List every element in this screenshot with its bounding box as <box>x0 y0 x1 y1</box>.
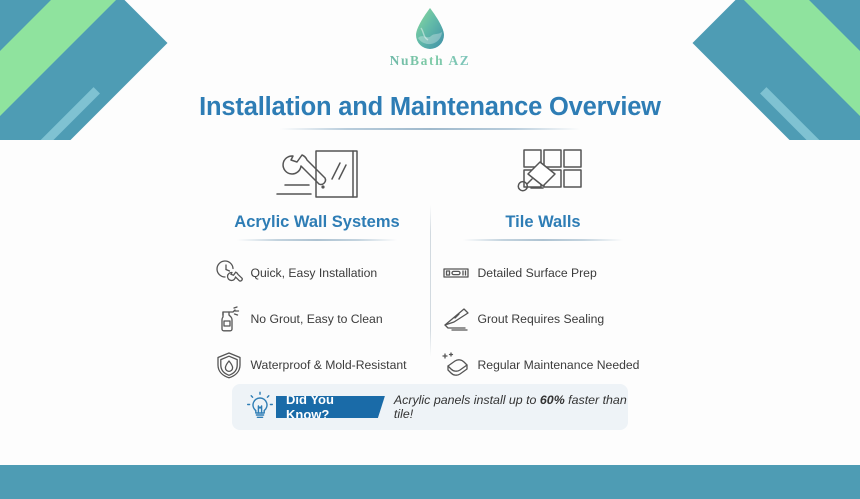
list-item: Grout Requires Sealing <box>441 304 656 334</box>
did-you-know-banner: Did You Know? Acrylic panels install up … <box>232 384 628 430</box>
list-item-label: Waterproof & Mold-Resistant <box>251 358 407 372</box>
title-underline <box>280 128 580 130</box>
spirit-level-icon <box>441 258 471 288</box>
list-item: No Grout, Easy to Clean <box>214 304 429 334</box>
list-item-label: Grout Requires Sealing <box>478 312 605 326</box>
list-item: Waterproof & Mold-Resistant <box>214 350 429 380</box>
column-heading-underline <box>237 239 397 241</box>
page-title: Installation and Maintenance Overview <box>0 93 860 122</box>
list-item-label: Quick, Easy Installation <box>251 266 378 280</box>
list-item: Detailed Surface Prep <box>441 258 656 288</box>
shield-droplet-icon <box>214 350 244 380</box>
list-item: Regular Maintenance Needed <box>441 350 656 380</box>
list-item-label: No Grout, Easy to Clean <box>251 312 383 326</box>
clock-wrench-icon <box>214 258 244 288</box>
water-drop-logo-icon <box>412 6 448 52</box>
dyk-text-before: Acrylic panels install up to <box>394 393 540 407</box>
did-you-know-text: Acrylic panels install up to 60% faster … <box>394 393 628 421</box>
column-tile: Tile Walls <box>436 143 651 396</box>
column-heading-tile: Tile Walls <box>505 213 580 232</box>
page-title-block: Installation and Maintenance Overview <box>0 93 860 130</box>
bullet-list-tile: Detailed Surface Prep Gro <box>431 258 656 396</box>
column-heading-acrylic: Acrylic Wall Systems <box>234 213 399 232</box>
list-item: Quick, Easy Installation <box>214 258 429 288</box>
brand-name: NuBath AZ <box>390 53 471 69</box>
slide-canvas: NuBath AZ Installation and Maintenance O… <box>0 0 860 499</box>
trowel-icon <box>441 304 471 334</box>
brand-logo: NuBath AZ <box>0 6 860 69</box>
sponge-icon <box>441 350 471 380</box>
did-you-know-badge: Did You Know? <box>276 396 385 418</box>
bottom-accent-bar <box>0 465 860 499</box>
column-acrylic: Acrylic Wall Systems <box>210 143 425 396</box>
list-item-label: Regular Maintenance Needed <box>478 358 640 372</box>
bullet-list-acrylic: Quick, Easy Installation <box>206 258 429 396</box>
trowel-tiles-icon <box>493 143 593 205</box>
column-heading-underline <box>463 239 623 241</box>
list-item-label: Detailed Surface Prep <box>478 266 597 280</box>
dyk-highlight: 60% <box>540 393 565 407</box>
wrench-wall-panel-icon <box>267 143 367 205</box>
lightbulb-icon <box>246 392 274 422</box>
comparison-columns: Acrylic Wall Systems <box>0 143 860 396</box>
spray-bottle-icon <box>214 304 244 334</box>
